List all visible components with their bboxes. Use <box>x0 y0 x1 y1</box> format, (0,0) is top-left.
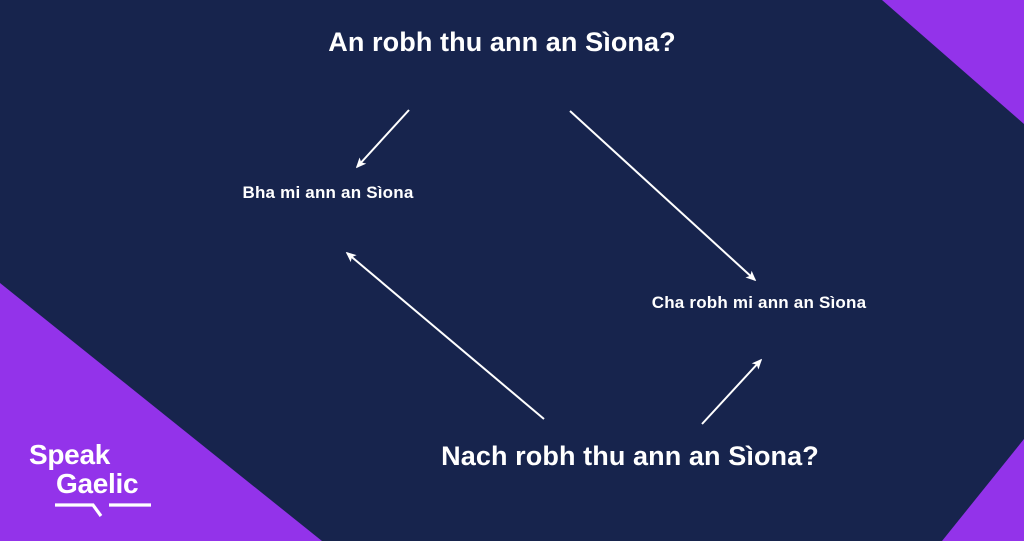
node-answer-positive: Bha mi ann an Sìona <box>178 182 478 203</box>
logo-line-gaelic: Gaelic <box>56 470 179 499</box>
arrow-question-top-to-negative <box>570 111 755 280</box>
node-answer-negative: Cha robh mi ann an Sìona <box>628 292 890 313</box>
speakgaelic-logo: Speak Gaelic <box>29 441 179 519</box>
arrow-question-top-to-positive <box>357 110 409 167</box>
logo-speech-bubble-rule <box>29 503 179 519</box>
node-question-bottom: Nach robh thu ann an Sìona? <box>430 440 830 474</box>
arrow-question-bottom-to-positive <box>347 253 544 419</box>
logo-line-speak: Speak <box>29 441 179 470</box>
arrow-question-bottom-to-negative <box>702 360 761 424</box>
node-question-top: An robh thu ann an Sìona? <box>302 26 702 60</box>
diagram-canvas: An robh thu ann an Sìona? Bha mi ann an … <box>0 0 1024 541</box>
